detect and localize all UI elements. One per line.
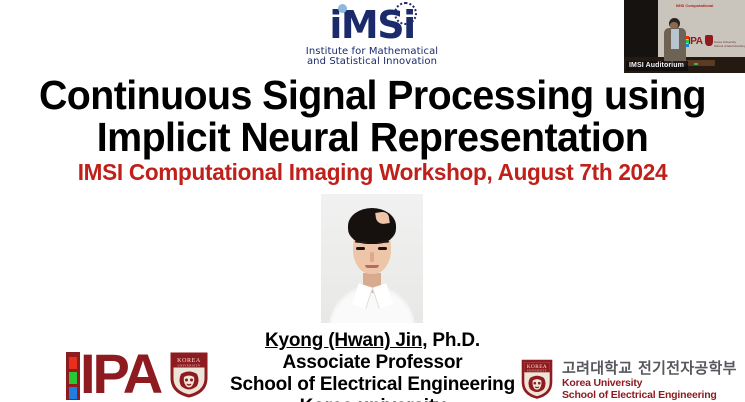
imsi-blue-dot-icon <box>338 4 347 13</box>
portrait-eye-right <box>378 247 387 250</box>
korea-university-shield-icon: KOREA UNIVERSITY <box>170 352 208 398</box>
ku-dept-korean-name: 고려대학교 전기전자공학부 <box>562 360 737 377</box>
presenter-shirt <box>671 29 679 49</box>
portrait-hair <box>348 208 396 244</box>
projection-screen-ipa-logo: IPA <box>688 36 702 47</box>
projection-ku-shield-icon <box>705 35 713 46</box>
projection-screen-sub-line2: School of Electrical Engineering <box>714 44 745 48</box>
ipa-swatch-green <box>69 372 77 384</box>
speaker-name: Kyong (Hwan) Jin, <box>265 330 427 351</box>
imsi-wordmark: iMSi <box>302 2 442 48</box>
ku-dept-english-line2: School of Electrical Engineering <box>562 389 737 401</box>
ipa-swatch-red <box>69 357 77 369</box>
portrait-mouth <box>365 265 379 268</box>
projection-screen-title: IMSI Computational <box>676 3 713 8</box>
imsi-tagline-line2: and Statistical Innovation <box>302 56 442 68</box>
video-feed-panel[interactable]: IMSI Computational IPA Korea University … <box>624 0 745 73</box>
portrait-nose <box>370 252 374 262</box>
slide-title-line1: Continuous Signal Processing using <box>15 74 730 116</box>
speaker-degree: Ph.D. <box>427 330 480 351</box>
ipa-logo-text: IPA <box>80 346 160 402</box>
portrait-eye-left <box>356 247 365 250</box>
ipa-swatch-blue <box>69 387 77 399</box>
svg-text:UNIVERSITY: UNIVERSITY <box>527 370 547 373</box>
ipa-logo: IPA KOREA UNIVERSITY <box>66 348 216 402</box>
slide-title-line2: Implicit Neural Representation <box>15 116 730 158</box>
presenter-figure <box>664 18 686 66</box>
imsi-dotted-ring-icon <box>394 2 417 25</box>
svg-text:UNIVERSITY: UNIVERSITY <box>177 364 200 368</box>
slide-title: Continuous Signal Processing using Impli… <box>15 74 730 158</box>
ipa-color-bar <box>66 352 80 400</box>
video-feed-label: IMSI Auditorium <box>626 61 688 71</box>
presentation-slide: iMSi Institute for Mathematical and Stat… <box>0 0 745 402</box>
ku-dept-text-block: 고려대학교 전기전자공학부 Korea University School of… <box>562 358 737 401</box>
projection-swatch-red <box>686 36 689 39</box>
korea-university-department-logo: KOREA UNIVERSITY 고려대학교 전기전자공학부 Korea Uni… <box>521 358 745 402</box>
desk-indicator-light-icon <box>694 63 698 65</box>
slide-subtitle: IMSI Computational Imaging Workshop, Aug… <box>7 159 737 185</box>
speaker-portrait-photo <box>321 194 423 323</box>
projection-swatch-blue <box>686 44 689 47</box>
projection-swatch-green <box>686 40 689 43</box>
imsi-logo: iMSi Institute for Mathematical and Stat… <box>302 2 442 76</box>
ku-dept-english-line1: Korea University <box>562 377 737 389</box>
imsi-wordmark-text: iMSi <box>302 4 442 46</box>
ku-dept-shield-icon: KOREA UNIVERSITY <box>521 359 553 399</box>
